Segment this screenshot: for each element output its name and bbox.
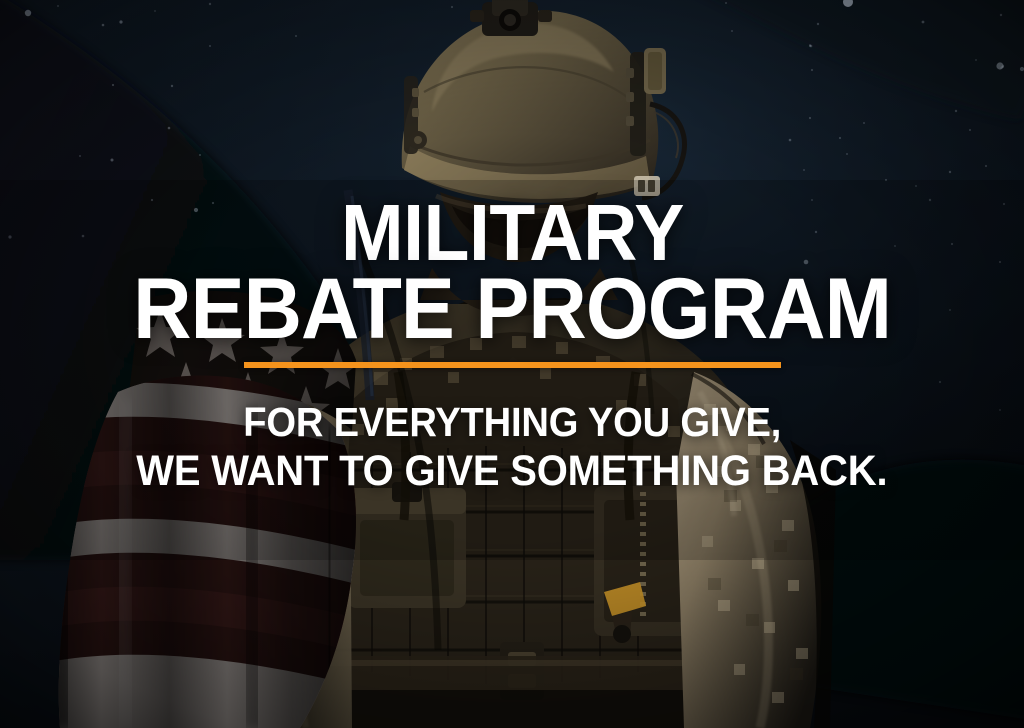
military-rebate-banner: MILITARY REBATE PROGRAM FOR EVERYTHING Y… xyxy=(0,0,1024,728)
background-photo xyxy=(0,0,1024,728)
